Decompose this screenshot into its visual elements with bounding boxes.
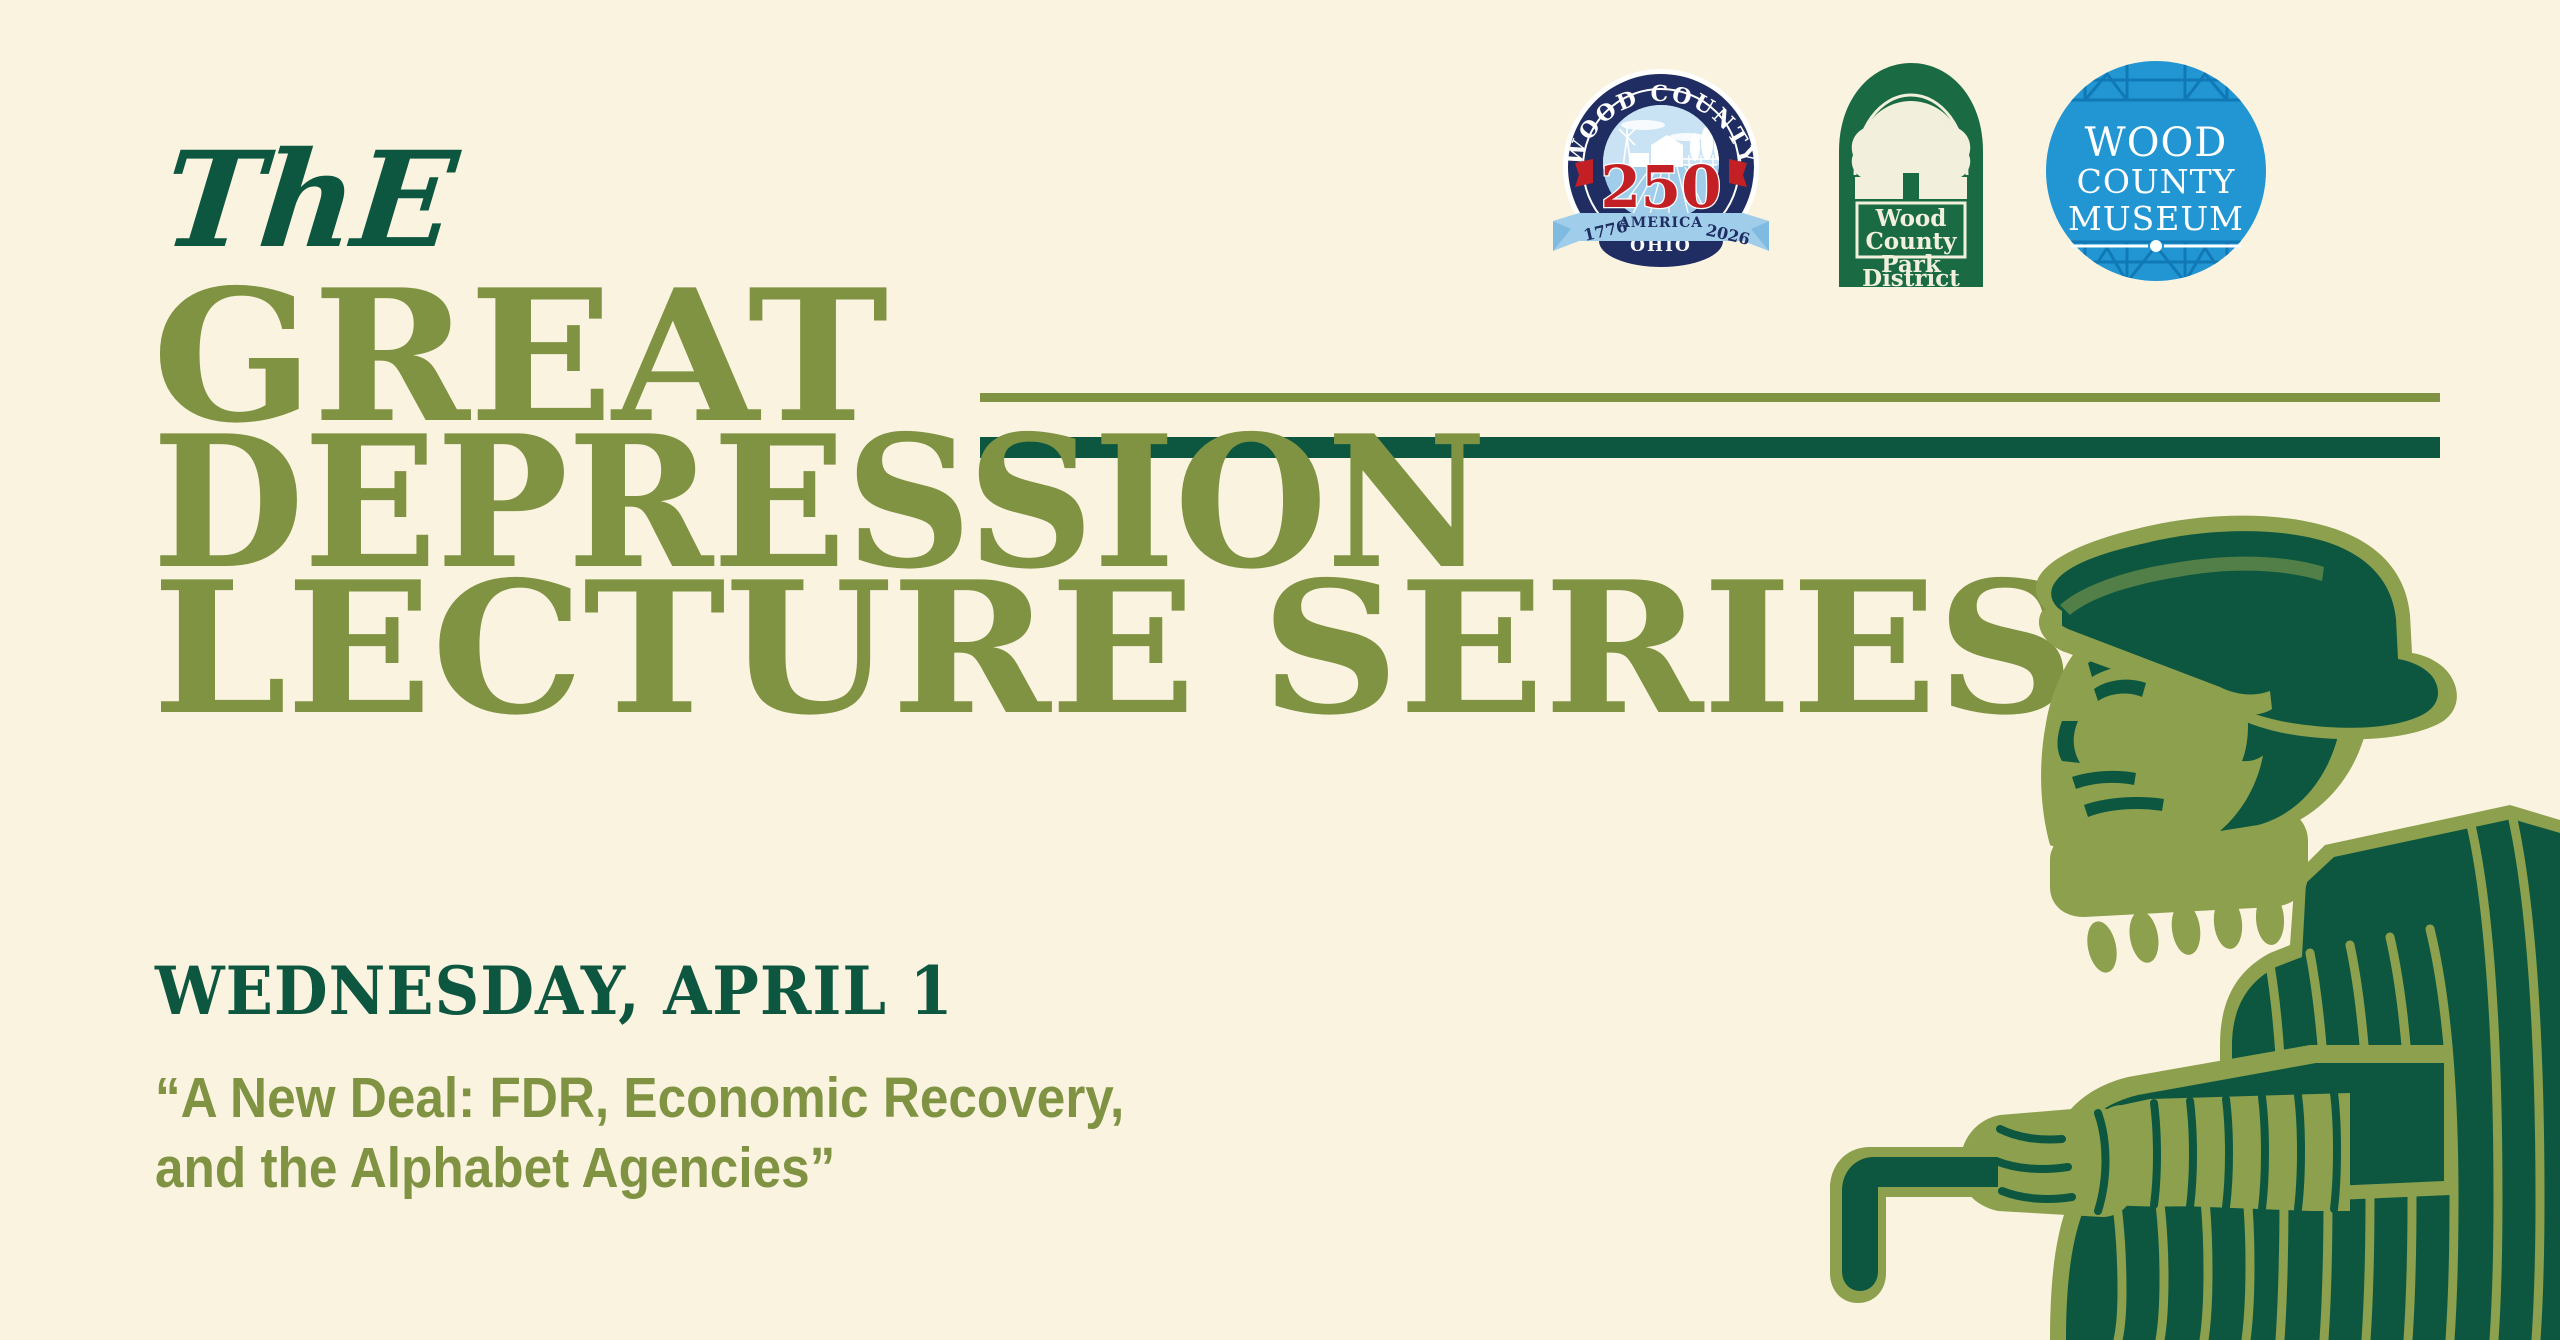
park-line-4: District (1862, 265, 1960, 287)
seal-center-word: AMERICA (1618, 215, 1703, 231)
wood-county-museum-logo[interactable]: WOOD COUNTY MUSEUM (2045, 60, 2267, 282)
event-subtitle-line-2: and the Alphabet Agencies” (155, 1134, 1124, 1204)
headline-line-lecture-series: LECTURE SERIES (152, 567, 2074, 731)
seal-number: 250 (1600, 153, 1721, 221)
event-subtitle-line-1: “A New Deal: FDR, Economic Recovery, (155, 1064, 1124, 1134)
partner-logos: WOOD COUNTY 250 OHIO 1776 AMERICA 2026 (1545, 55, 2267, 287)
wood-county-250-seal[interactable]: WOOD COUNTY 250 OHIO 1776 AMERICA 2026 (1545, 55, 1777, 287)
museum-line-3: MUSEUM (2068, 199, 2244, 238)
event-subtitle: “A New Deal: FDR, Economic Recovery, and… (155, 1064, 1124, 1203)
museum-line-1: WOOD (2085, 120, 2228, 166)
poster-canvas: ThE GREAT DEPRESSION LECTURE SERIES WEDN… (0, 0, 2560, 1340)
wood-county-park-district-logo[interactable]: Wood County Park District (1825, 55, 1997, 287)
museum-line-2: COUNTY (2077, 162, 2236, 201)
event-details-block: WEDNESDAY, APRIL 1 “A New Deal: FDR, Eco… (155, 952, 1232, 1203)
event-date: WEDNESDAY, APRIL 1 (155, 952, 1167, 1030)
